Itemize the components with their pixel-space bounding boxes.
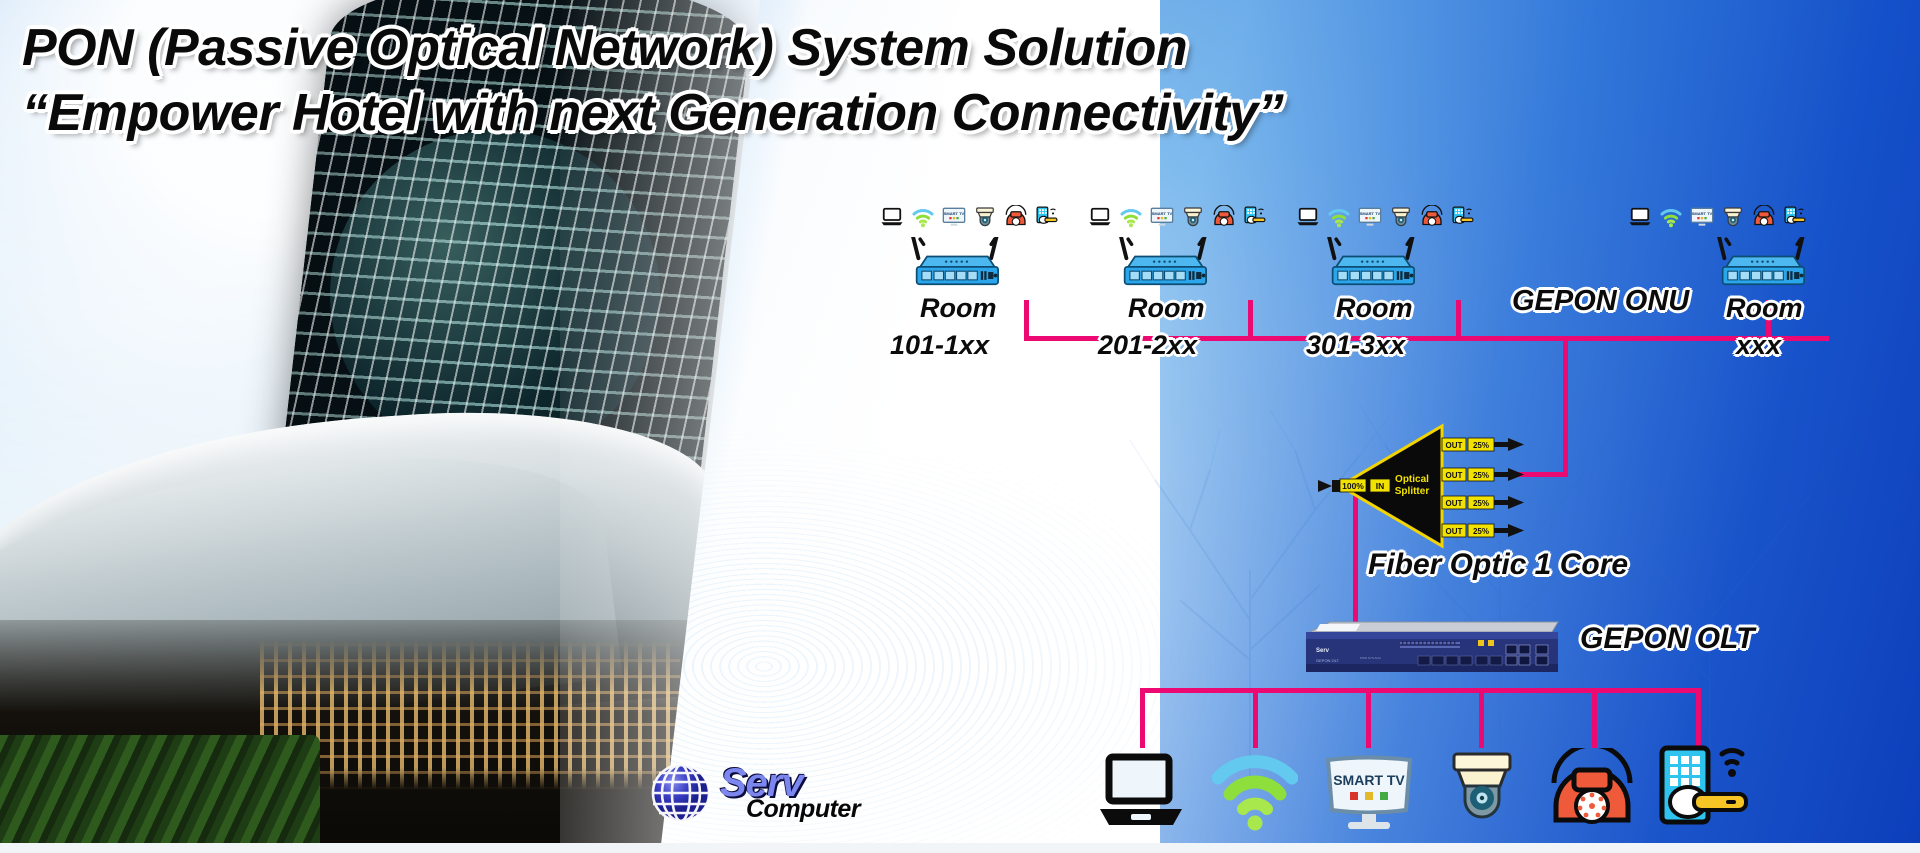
cctv-camera-icon: [1389, 205, 1413, 229]
globe-icon: [650, 762, 712, 824]
door-lock-icon: [1783, 205, 1807, 229]
door-lock-icon: [1035, 205, 1059, 229]
logo-wordmark: Serv Computer: [720, 764, 860, 822]
room-1-number: 101-1xx: [890, 330, 989, 361]
laptop-icon: [880, 205, 904, 229]
splitter-input-label: IN: [1376, 481, 1385, 491]
olt-downlink-bus: [1140, 688, 1700, 693]
splitter-title-line1: Optical: [1395, 474, 1429, 485]
gepon-onu-label: GEPON ONU: [1512, 285, 1689, 318]
telephone-icon: [1548, 748, 1636, 832]
svg-text:SMART TV: SMART TV: [1360, 211, 1381, 216]
door-lock-icon: [1243, 205, 1267, 229]
wifi-icon: [1659, 205, 1683, 229]
room-1-name: Room: [920, 293, 997, 324]
wifi-icon: [1327, 205, 1351, 229]
smart-tv-screen-text: SMART TV: [1333, 772, 1405, 788]
svg-text:OUT: OUT: [1446, 527, 1463, 536]
fiber-drop-room-3: [1456, 300, 1461, 340]
poster-titles: PON (Passive Optical Network) System Sol…: [22, 16, 1302, 146]
gepon-onu-device-2: [1116, 237, 1220, 295]
door-lock-icon: [1451, 205, 1475, 229]
gepon-olt-label: GEPON OLT: [1580, 622, 1754, 656]
cctv-camera-icon: [1181, 205, 1205, 229]
room-3-number: 301-3xx: [1306, 330, 1405, 361]
olt-downlink-5: [1592, 688, 1597, 748]
wifi-icon: [1119, 205, 1143, 229]
splitter-output-4: OUT 25%: [1442, 524, 1524, 537]
svg-text:PWR SYS ALM: PWR SYS ALM: [1360, 656, 1381, 660]
gepon-onu-device-4: [1714, 237, 1818, 295]
laptop-icon: [1098, 752, 1184, 832]
bottom-white-strip: [0, 843, 1920, 853]
svg-text:OUT: OUT: [1446, 499, 1463, 508]
room-4-number: xxx: [1736, 330, 1781, 361]
serv-computer-logo: Serv Computer: [650, 762, 860, 824]
smart-tv-icon: SMART TV: [1690, 205, 1714, 229]
splitter-output-3: OUT 25%: [1442, 496, 1524, 509]
telephone-icon: [1420, 205, 1444, 229]
svg-text:25%: 25%: [1473, 527, 1489, 536]
title-line-1: PON (Passive Optical Network) System Sol…: [22, 16, 1302, 81]
gepon-olt-device: Serv GEPON OLT PWR SYS ALM: [1300, 612, 1570, 682]
fiber-optic-label: Fiber Optic 1 Core: [1368, 548, 1628, 582]
logo-computer-text: Computer: [746, 798, 860, 822]
splitter-input-percent: 100%: [1342, 481, 1364, 491]
telephone-icon: [1004, 205, 1028, 229]
laptop-icon: [1296, 205, 1320, 229]
optical-splitter: 100% IN Optical Splitter OUT 25% OUT 25%…: [1312, 420, 1564, 552]
room-1-device-icons: SMART TV: [880, 205, 1059, 229]
svg-text:Serv: Serv: [1316, 648, 1330, 654]
svg-text:GEPON OLT: GEPON OLT: [1316, 658, 1340, 663]
svg-text:25%: 25%: [1473, 499, 1489, 508]
splitter-output-2: OUT 25%: [1442, 468, 1524, 481]
smart-tv-icon: SMART TV: [1358, 205, 1382, 229]
svg-text:OUT: OUT: [1446, 441, 1463, 450]
room-4-name: Room: [1726, 293, 1803, 324]
pon-hotel-solution-poster: PON (Passive Optical Network) System Sol…: [0, 0, 1920, 853]
olt-downlink-1: [1140, 688, 1145, 748]
room-3-name: Room: [1336, 293, 1413, 324]
title-line-2: “Empower Hotel with next Generation Conn…: [22, 81, 1302, 146]
svg-text:SMART TV: SMART TV: [1692, 211, 1713, 216]
telephone-icon: [1212, 205, 1236, 229]
wifi-icon: [911, 205, 935, 229]
svg-text:SMART TV: SMART TV: [1152, 211, 1173, 216]
wifi-icon: [1212, 752, 1298, 832]
laptop-icon: [1628, 205, 1652, 229]
svg-text:25%: 25%: [1473, 441, 1489, 450]
splitter-title-line2: Splitter: [1395, 486, 1430, 497]
splitter-output-1: OUT 25%: [1442, 438, 1524, 451]
door-lock-icon: [1656, 744, 1756, 832]
room-2-device-icons: SMART TV: [1088, 205, 1267, 229]
smart-tv-icon: SMART TV: [942, 205, 966, 229]
olt-downlink-4: [1479, 688, 1484, 748]
telephone-icon: [1752, 205, 1776, 229]
gepon-onu-device-3: [1324, 237, 1428, 295]
smart-tv-icon: SMART TV: [1150, 205, 1174, 229]
room-4-device-icons: SMART TV: [1628, 205, 1807, 229]
room-2-name: Room: [1128, 293, 1205, 324]
laptop-icon: [1088, 205, 1112, 229]
smart-tv-icon: SMART TV: [1322, 752, 1416, 832]
olt-downlink-3: [1366, 688, 1371, 748]
room-2-number: 201-2xx: [1098, 330, 1197, 361]
gepon-onu-device-1: [908, 237, 1012, 295]
svg-text:25%: 25%: [1473, 471, 1489, 480]
room-3-device-icons: SMART TV: [1296, 205, 1475, 229]
cctv-camera-icon: [1721, 205, 1745, 229]
cctv-camera-icon: [1440, 748, 1524, 832]
svg-text:SMART TV: SMART TV: [944, 211, 965, 216]
cctv-camera-icon: [973, 205, 997, 229]
fiber-drop-room-1: [1024, 300, 1029, 340]
svg-text:OUT: OUT: [1446, 471, 1463, 480]
hedge-landscaping: [0, 735, 320, 853]
olt-downlink-6: [1696, 688, 1701, 748]
fiber-drop-room-2: [1248, 300, 1253, 340]
olt-downlink-2: [1253, 688, 1258, 748]
